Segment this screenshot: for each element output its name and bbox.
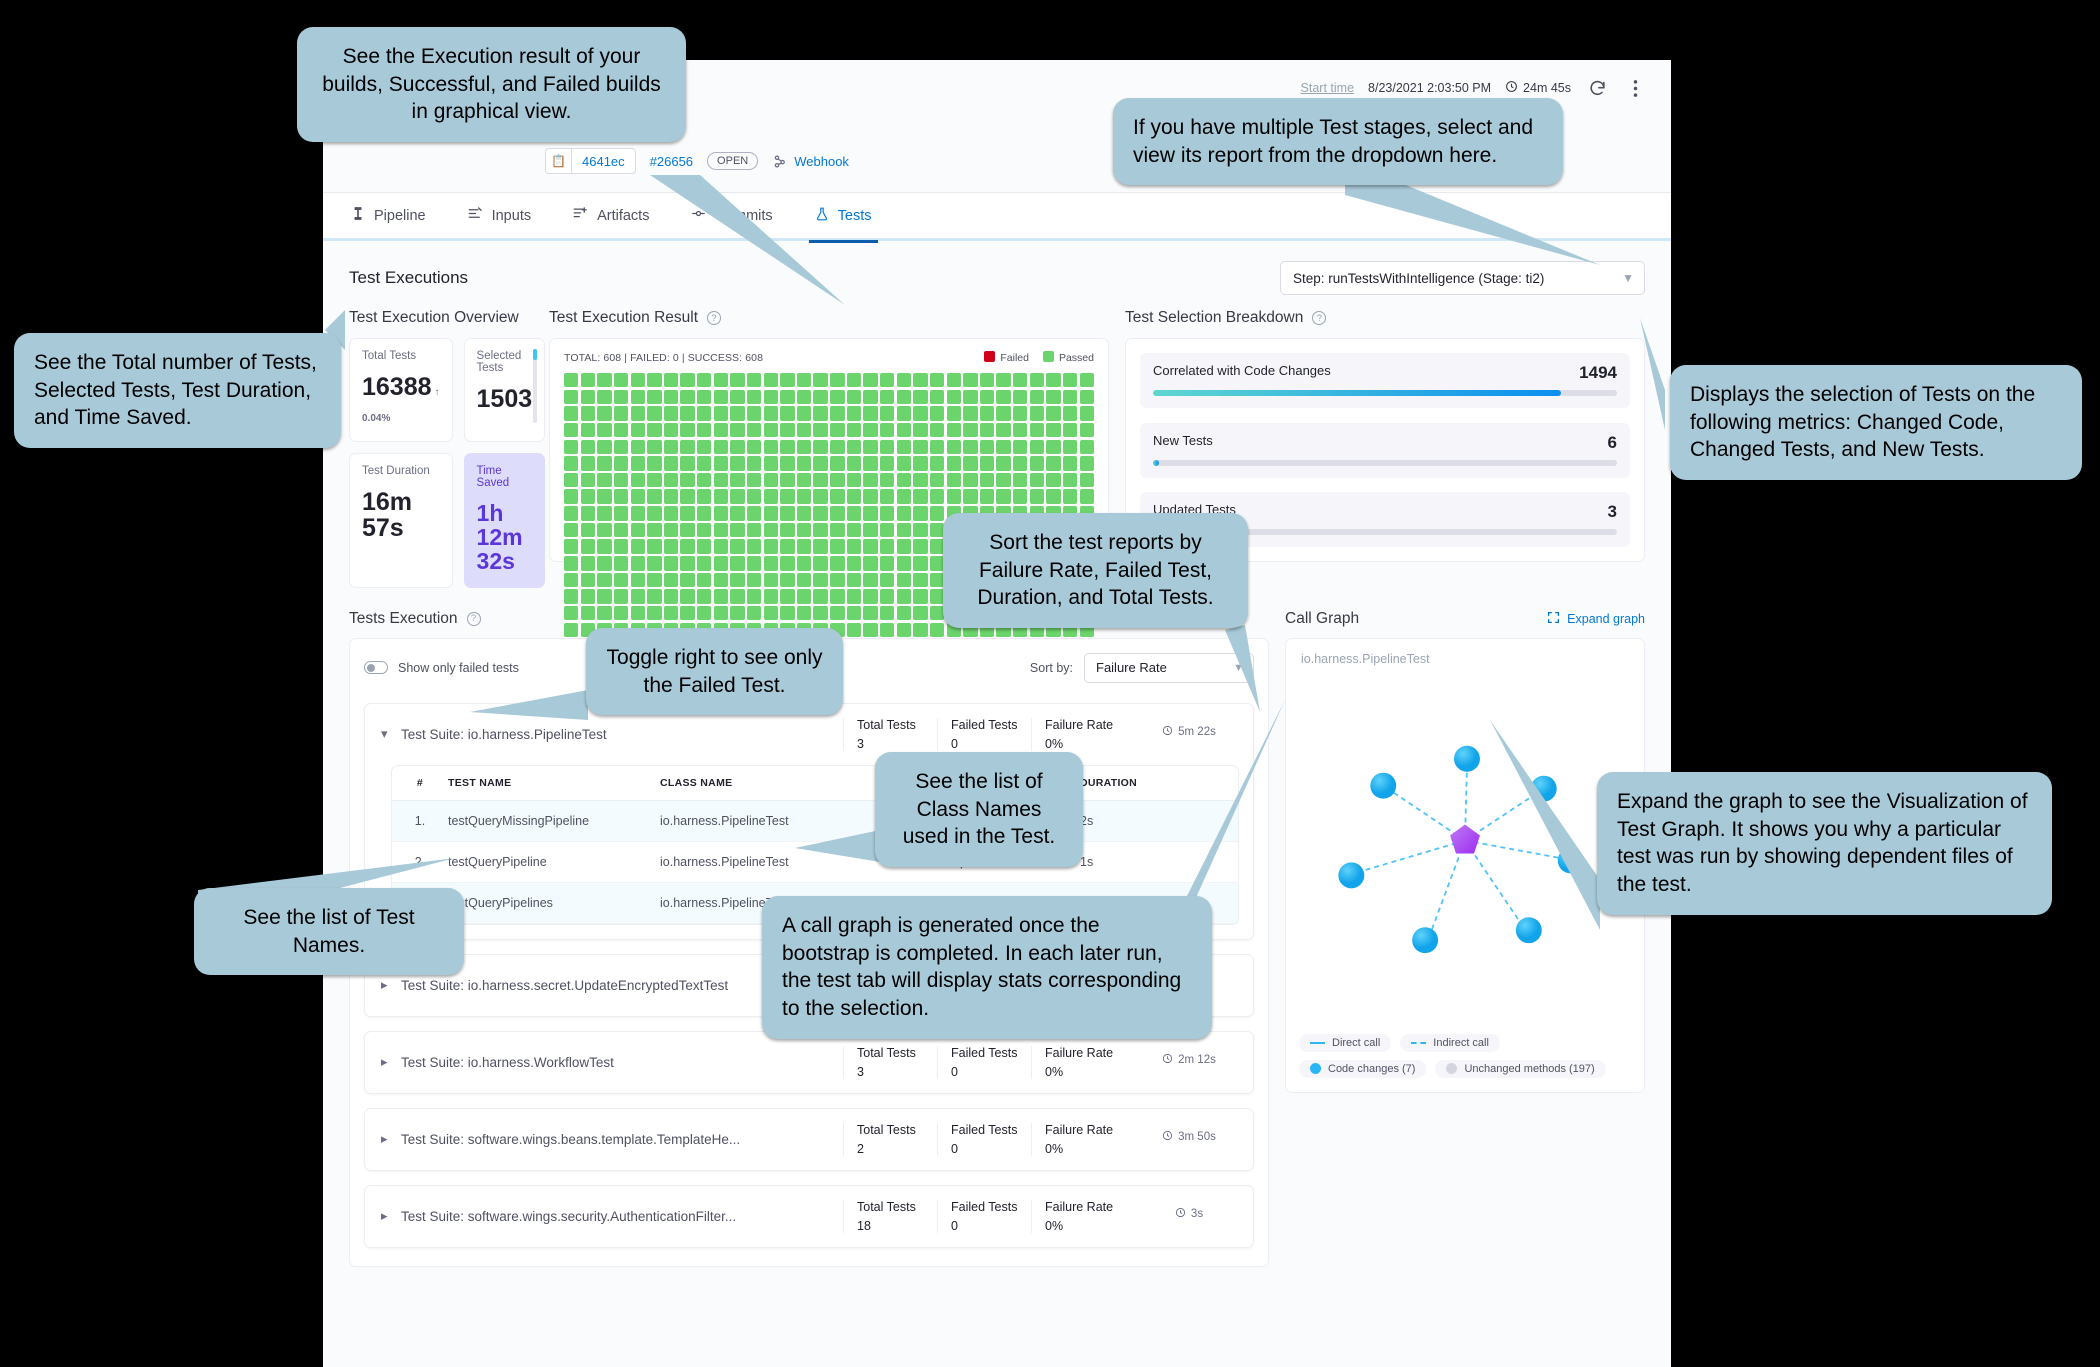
callout-selection-metrics: Displays the selection of Tests on the f… [1670,365,2082,480]
callout-test-stages: If you have multiple Test stages, select… [1113,98,1563,185]
callout-test-names: See the list of Test Names. [194,888,464,975]
callout-sort: Sort the test reports by Failure Rate, F… [943,513,1248,628]
callout-overview-metrics: See the Total number of Tests, Selected … [14,333,341,448]
callout-expand-graph: Expand the graph to see the Visualizatio… [1597,772,2052,915]
callout-class-names: See the list of Class Names used in the … [875,752,1083,867]
callout-toggle: Toggle right to see only the Failed Test… [586,628,843,715]
callout-execution-result: See the Execution result of your builds,… [297,27,686,142]
callout-call-graph: A call graph is generated once the boots… [762,896,1212,1039]
callout-tails [0,0,2100,1367]
